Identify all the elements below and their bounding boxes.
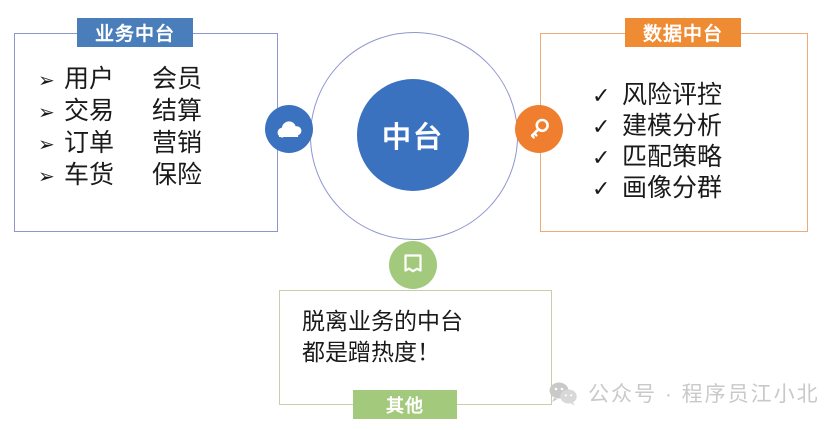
list-item-label-secondary: 结算 xyxy=(152,96,202,126)
list-item: ✓ 风险评控 xyxy=(592,80,722,111)
list-item-label: 车货 xyxy=(64,160,152,190)
diagram-canvas: 业务中台 ➢ 用户 会员 ➢ 交易 结算 ➢ 订单 营销 ➢ 车货 保险 数据中… xyxy=(0,0,828,430)
wechat-icon xyxy=(548,381,578,406)
other-node xyxy=(389,241,437,289)
arrow-bullet-icon: ➢ xyxy=(38,130,64,160)
watermark: 公众号 · 程序员江小北 xyxy=(548,378,820,408)
check-bullet-icon: ✓ xyxy=(592,112,622,142)
other-panel-line-1: 脱离业务的中台 xyxy=(302,306,542,337)
center-circle-label: 中台 xyxy=(382,114,444,156)
list-item-label-secondary: 营销 xyxy=(152,128,202,158)
other-panel-tab-label: 其他 xyxy=(386,392,424,418)
business-panel-tab: 业务中台 xyxy=(77,18,193,47)
data-panel-tab-label: 数据中台 xyxy=(643,19,723,46)
other-panel-line-2: 都是蹭热度！ xyxy=(302,337,542,368)
document-icon xyxy=(401,252,425,278)
business-list: ➢ 用户 会员 ➢ 交易 结算 ➢ 订单 营销 ➢ 车货 保险 xyxy=(38,64,202,192)
arrow-bullet-icon: ➢ xyxy=(38,66,64,96)
business-node xyxy=(265,105,313,153)
arrow-bullet-icon: ➢ xyxy=(38,162,64,192)
other-panel-tab: 其他 xyxy=(353,390,457,419)
list-item-label: 订单 xyxy=(64,128,152,158)
list-item-label-secondary: 保险 xyxy=(152,160,202,190)
business-panel-tab-label: 业务中台 xyxy=(95,19,175,46)
cloud-icon xyxy=(276,119,302,139)
arrow-bullet-icon: ➢ xyxy=(38,98,64,128)
list-item-label: 风险评控 xyxy=(622,80,722,110)
center-circle: 中台 xyxy=(357,79,469,191)
list-item: ✓ 匹配策略 xyxy=(592,142,722,173)
list-item: ➢ 交易 结算 xyxy=(38,96,202,128)
check-bullet-icon: ✓ xyxy=(592,81,622,111)
data-panel-tab: 数据中台 xyxy=(625,18,741,47)
list-item: ✓ 建模分析 xyxy=(592,111,722,142)
list-item: ✓ 画像分群 xyxy=(592,173,722,204)
list-item-label: 画像分群 xyxy=(622,173,722,203)
list-item: ➢ 车货 保险 xyxy=(38,160,202,192)
other-panel-text: 脱离业务的中台 都是蹭热度！ xyxy=(302,306,542,368)
check-bullet-icon: ✓ xyxy=(592,174,622,204)
watermark-text: 公众号 · 程序员江小北 xyxy=(588,378,820,408)
data-list: ✓ 风险评控 ✓ 建模分析 ✓ 匹配策略 ✓ 画像分群 xyxy=(592,80,722,204)
key-icon xyxy=(527,117,551,141)
list-item: ➢ 订单 营销 xyxy=(38,128,202,160)
list-item-label-secondary: 会员 xyxy=(152,64,202,94)
check-bullet-icon: ✓ xyxy=(592,143,622,173)
list-item-label: 匹配策略 xyxy=(622,142,722,172)
list-item-label: 用户 xyxy=(64,64,152,94)
list-item-label: 建模分析 xyxy=(622,111,722,141)
list-item: ➢ 用户 会员 xyxy=(38,64,202,96)
list-item-label: 交易 xyxy=(64,96,152,126)
data-node xyxy=(515,105,563,153)
